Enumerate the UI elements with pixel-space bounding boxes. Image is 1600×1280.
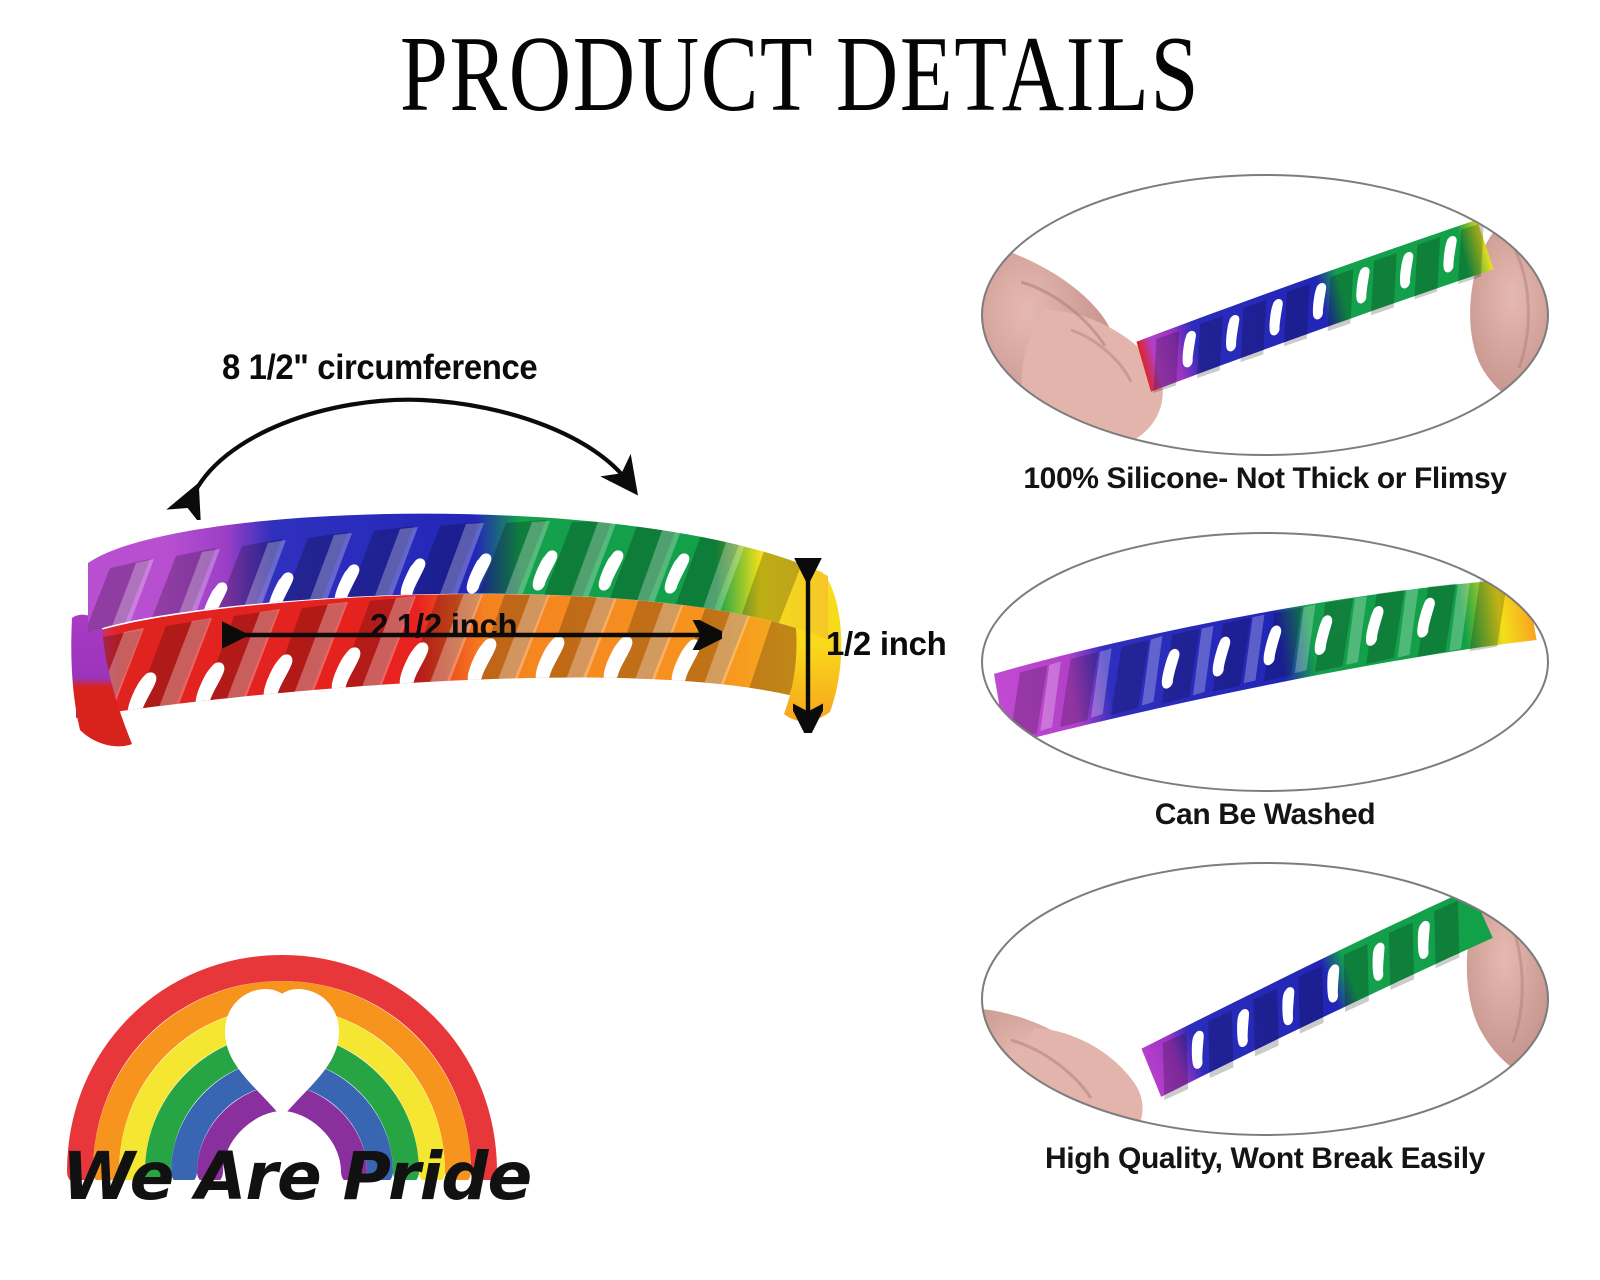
feature-card-washable: Can Be Washed	[975, 528, 1555, 832]
product-details-page: PRODUCT DETAILS 8 1/2" circumference	[0, 0, 1600, 1280]
height-dimension-label: 1/2 inch	[826, 625, 946, 663]
brand-name: We Are Pride	[62, 1138, 502, 1215]
width-dimension-arrow	[222, 620, 722, 650]
brand-logo: We Are Pride	[62, 950, 502, 1260]
feature-image-silicone	[975, 170, 1555, 460]
height-dimension-arrow	[793, 558, 823, 733]
feature-image-durable	[975, 858, 1555, 1140]
main-product-panel: 8 1/2" circumference	[0, 0, 960, 1280]
feature-card-durable: High Quality, Wont Break Easily	[975, 858, 1555, 1176]
feature-card-silicone: 100% Silicone- Not Thick or Flimsy	[975, 170, 1555, 496]
feature-image-washable	[975, 528, 1555, 796]
feature-caption: 100% Silicone- Not Thick or Flimsy	[975, 462, 1555, 496]
feature-caption: High Quality, Wont Break Easily	[975, 1142, 1555, 1176]
feature-caption: Can Be Washed	[975, 798, 1555, 832]
